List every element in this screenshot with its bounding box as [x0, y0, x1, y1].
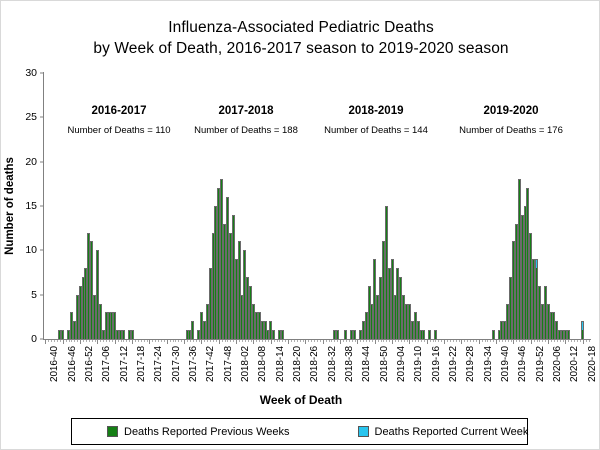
x-tick-label: 2019-10 — [413, 346, 424, 382]
x-tick-mark-minor — [450, 340, 451, 342]
x-tick-mark — [97, 340, 98, 344]
x-tick-label: 2019-52 — [535, 346, 546, 382]
bar-segment-previous-weeks — [131, 330, 134, 339]
bar-segment-previous-weeks — [61, 330, 64, 339]
x-tick-mark-minor — [89, 340, 90, 342]
x-tick-mark — [565, 340, 566, 344]
x-tick-mark-minor — [447, 340, 448, 342]
x-tick-mark-minor — [300, 340, 301, 342]
bar-segment-previous-weeks — [344, 330, 347, 339]
bar-column — [281, 330, 284, 339]
x-tick-mark — [80, 340, 81, 344]
bar-column — [344, 330, 347, 339]
season-label: 2018-2019 — [349, 105, 404, 117]
x-tick-mark-minor — [109, 340, 110, 342]
x-tick-label: 2018-32 — [327, 346, 338, 382]
x-tick-mark-minor — [66, 340, 67, 342]
x-tick-mark-minor — [71, 340, 72, 342]
x-tick-label: 2018-14 — [275, 346, 286, 382]
legend-item-previous-weeks: Deaths Reported Previous Weeks — [107, 426, 290, 438]
x-tick-mark-minor — [346, 340, 347, 342]
x-tick-mark-minor — [291, 340, 292, 342]
x-tick-mark-minor — [118, 340, 119, 342]
x-tick-mark — [201, 340, 202, 344]
x-tick-mark-minor — [568, 340, 569, 342]
bar-segment-previous-weeks — [336, 330, 339, 339]
x-tick-label: 2016-46 — [67, 346, 78, 382]
x-tick-mark-minor — [476, 340, 477, 342]
x-tick-mark-minor — [577, 340, 578, 342]
x-tick-mark-minor — [161, 340, 162, 342]
legend-swatch-green-icon — [107, 426, 118, 437]
x-tick-mark-minor — [106, 340, 107, 342]
x-tick-label: 2019-34 — [483, 346, 494, 382]
x-tick-mark — [427, 340, 428, 344]
x-tick-mark-minor — [199, 340, 200, 342]
x-tick-mark-minor — [386, 340, 387, 342]
x-tick-mark-minor — [262, 340, 263, 342]
x-tick-mark-minor — [256, 340, 257, 342]
x-tick-mark — [271, 340, 272, 344]
x-tick-mark-minor — [586, 340, 587, 342]
x-tick-mark-minor — [369, 340, 370, 342]
x-tick-mark-minor — [112, 340, 113, 342]
x-tick-mark — [323, 340, 324, 344]
x-tick-mark-minor — [164, 340, 165, 342]
x-tick-mark-minor — [69, 340, 70, 342]
x-tick-mark-minor — [493, 340, 494, 342]
bar-segment-previous-weeks — [122, 330, 125, 339]
x-tick-mark-minor — [571, 340, 572, 342]
x-tick-mark-minor — [54, 340, 55, 342]
season-total-deaths: Number of Deaths = 144 — [324, 125, 428, 136]
x-tick-mark-minor — [274, 340, 275, 342]
x-tick-label: 2020-18 — [587, 346, 598, 382]
x-tick-mark — [513, 340, 514, 344]
bar-segment-current-week — [535, 259, 538, 268]
x-tick-mark — [63, 340, 64, 344]
x-tick-mark — [392, 340, 393, 344]
x-tick-mark-minor — [282, 340, 283, 342]
x-tick-mark-minor — [329, 340, 330, 342]
x-tick-mark — [340, 340, 341, 344]
x-tick-mark-minor — [126, 340, 127, 342]
x-tick-mark — [461, 340, 462, 344]
bar-column — [492, 330, 495, 339]
x-tick-mark-minor — [372, 340, 373, 342]
chart-title-line2: by Week of Death, 2016-2017 season to 20… — [1, 38, 600, 59]
x-tick-mark-minor — [233, 340, 234, 342]
x-tick-mark-minor — [537, 340, 538, 342]
x-tick-label: 2018-50 — [379, 346, 390, 382]
x-tick-mark-minor — [216, 340, 217, 342]
x-tick-mark-minor — [141, 340, 142, 342]
bar-column — [353, 330, 356, 339]
bar-column — [567, 330, 570, 339]
x-tick-label: 2017-30 — [171, 346, 182, 382]
bar-column — [434, 330, 437, 339]
x-tick-mark-minor — [401, 340, 402, 342]
x-tick-mark-minor — [207, 340, 208, 342]
x-tick-mark-minor — [415, 340, 416, 342]
x-tick-mark — [375, 340, 376, 344]
x-tick-mark-minor — [193, 340, 194, 342]
x-tick-mark — [219, 340, 220, 344]
x-axis-title: Week of Death — [1, 393, 600, 407]
y-axis-title: Number of deaths — [4, 157, 16, 255]
bar-segment-previous-weeks — [191, 321, 194, 339]
x-tick-mark-minor — [210, 340, 211, 342]
x-tick-mark-minor — [505, 340, 506, 342]
x-tick-mark-minor — [227, 340, 228, 342]
x-tick-label: 2019-16 — [431, 346, 442, 382]
x-tick-mark-minor — [456, 340, 457, 342]
x-tick-mark — [149, 340, 150, 344]
x-tick-mark-minor — [129, 340, 130, 342]
x-tick-mark-minor — [554, 340, 555, 342]
x-tick-label: 2017-06 — [101, 346, 112, 382]
x-tick-mark — [236, 340, 237, 344]
x-tick-mark-minor — [239, 340, 240, 342]
x-tick-mark-minor — [135, 340, 136, 342]
x-tick-mark-minor — [57, 340, 58, 342]
x-tick-mark-minor — [245, 340, 246, 342]
x-tick-mark-minor — [158, 340, 159, 342]
x-tick-mark-minor — [441, 340, 442, 342]
x-tick-mark-minor — [294, 340, 295, 342]
x-tick-mark-minor — [516, 340, 517, 342]
x-tick-mark-minor — [320, 340, 321, 342]
bar-column — [581, 321, 584, 339]
x-tick-mark-minor — [363, 340, 364, 342]
x-tick-mark — [184, 340, 185, 344]
x-tick-mark-minor — [337, 340, 338, 342]
x-tick-label: 2017-42 — [205, 346, 216, 382]
x-tick-mark-minor — [77, 340, 78, 342]
x-tick-mark-minor — [502, 340, 503, 342]
bar-segment-previous-weeks — [428, 330, 431, 339]
x-tick-mark-minor — [398, 340, 399, 342]
x-tick-mark-minor — [557, 340, 558, 342]
bar-segment-current-week — [581, 321, 584, 330]
bar-column — [61, 330, 64, 339]
chart-frame: Influenza-Associated Pediatric Deaths by… — [0, 0, 600, 450]
x-tick-mark-minor — [453, 340, 454, 342]
x-tick-mark-minor — [499, 340, 500, 342]
x-tick-mark — [115, 340, 116, 344]
chart-title-line1: Influenza-Associated Pediatric Deaths — [1, 17, 600, 38]
chart-title: Influenza-Associated Pediatric Deaths by… — [1, 17, 600, 59]
x-tick-mark-minor — [485, 340, 486, 342]
x-tick-mark — [357, 340, 358, 344]
x-tick-label: 2020-12 — [569, 346, 580, 382]
x-tick-label: 2018-08 — [257, 346, 268, 382]
x-tick-mark-minor — [511, 340, 512, 342]
x-tick-label: 2016-40 — [49, 346, 60, 382]
legend-swatch-blue-icon — [358, 426, 369, 437]
x-tick-mark-minor — [196, 340, 197, 342]
x-tick-label: 2019-28 — [465, 346, 476, 382]
x-tick-mark-minor — [574, 340, 575, 342]
x-tick-mark-minor — [580, 340, 581, 342]
x-tick-mark-minor — [222, 340, 223, 342]
bar-segment-previous-weeks — [492, 330, 495, 339]
x-tick-mark-minor — [589, 340, 590, 342]
x-tick-mark-minor — [181, 340, 182, 342]
x-tick-mark-minor — [242, 340, 243, 342]
x-tick-mark-minor — [48, 340, 49, 342]
x-tick-mark-minor — [470, 340, 471, 342]
x-tick-mark-minor — [424, 340, 425, 342]
x-tick-label: 2018-02 — [240, 346, 251, 382]
x-tick-mark-minor — [308, 340, 309, 342]
x-tick-label: 2020-06 — [552, 346, 563, 382]
bar-segment-previous-weeks — [581, 330, 584, 339]
x-tick-mark-minor — [331, 340, 332, 342]
x-tick-mark-minor — [404, 340, 405, 342]
x-tick-label: 2018-44 — [361, 346, 372, 382]
x-tick-mark-minor — [259, 340, 260, 342]
x-tick-mark-minor — [144, 340, 145, 342]
x-tick-mark-minor — [268, 340, 269, 342]
x-tick-mark-minor — [147, 340, 148, 342]
bar-column — [191, 321, 194, 339]
x-tick-mark-minor — [418, 340, 419, 342]
x-tick-mark-minor — [51, 340, 52, 342]
x-tick-mark-minor — [378, 340, 379, 342]
x-tick-mark-minor — [467, 340, 468, 342]
x-tick-mark-minor — [230, 340, 231, 342]
x-tick-mark — [531, 340, 532, 344]
x-tick-mark-minor — [435, 340, 436, 342]
x-tick-label: 2018-38 — [344, 346, 355, 382]
x-tick-mark-minor — [525, 340, 526, 342]
x-tick-mark-minor — [86, 340, 87, 342]
x-tick-mark-minor — [297, 340, 298, 342]
x-tick-mark-minor — [539, 340, 540, 342]
x-tick-mark-minor — [522, 340, 523, 342]
season-total-deaths: Number of Deaths = 176 — [459, 125, 563, 136]
x-tick-mark-minor — [487, 340, 488, 342]
x-tick-mark-minor — [560, 340, 561, 342]
x-tick-mark-minor — [508, 340, 509, 342]
x-tick-mark-minor — [366, 340, 367, 342]
x-tick-mark-minor — [438, 340, 439, 342]
x-tick-mark-minor — [542, 340, 543, 342]
bar-segment-previous-weeks — [281, 330, 284, 339]
x-tick-mark-minor — [421, 340, 422, 342]
season-label: 2016-2017 — [92, 105, 147, 117]
x-tick-mark-minor — [279, 340, 280, 342]
x-tick-mark — [167, 340, 168, 344]
x-tick-mark-minor — [389, 340, 390, 342]
x-tick-mark-minor — [152, 340, 153, 342]
bar-column — [272, 330, 275, 339]
x-tick-mark-minor — [412, 340, 413, 342]
bar-segment-previous-weeks — [353, 330, 356, 339]
season-label: 2017-2018 — [219, 105, 274, 117]
x-tick-mark-minor — [277, 340, 278, 342]
bar-column — [422, 330, 425, 339]
x-tick-mark-minor — [430, 340, 431, 342]
x-tick-mark-minor — [173, 340, 174, 342]
x-tick-mark-minor — [360, 340, 361, 342]
x-tick-mark-minor — [187, 340, 188, 342]
x-tick-mark-minor — [314, 340, 315, 342]
x-tick-mark-minor — [519, 340, 520, 342]
x-tick-mark-minor — [464, 340, 465, 342]
x-tick-mark-minor — [383, 340, 384, 342]
x-tick-mark — [305, 340, 306, 344]
x-tick-label: 2017-12 — [119, 346, 130, 382]
x-tick-label: 2017-18 — [136, 346, 147, 382]
x-tick-mark-minor — [92, 340, 93, 342]
x-tick-mark — [288, 340, 289, 344]
x-tick-mark-minor — [334, 340, 335, 342]
x-tick-mark-minor — [303, 340, 304, 342]
x-tick-mark-minor — [265, 340, 266, 342]
x-tick-mark-minor — [204, 340, 205, 342]
x-tick-mark — [132, 340, 133, 344]
x-tick-mark-minor — [103, 340, 104, 342]
x-tick-mark-minor — [433, 340, 434, 342]
x-tick-mark-minor — [528, 340, 529, 342]
x-tick-mark-minor — [482, 340, 483, 342]
x-tick-mark-minor — [213, 340, 214, 342]
season-total-deaths: Number of Deaths = 110 — [67, 125, 170, 136]
x-tick-mark-minor — [311, 340, 312, 342]
x-tick-mark — [583, 340, 584, 344]
x-tick-mark-minor — [251, 340, 252, 342]
legend-label-previous-weeks: Deaths Reported Previous Weeks — [124, 426, 290, 438]
x-tick-mark-minor — [407, 340, 408, 342]
x-tick-mark-minor — [326, 340, 327, 342]
x-tick-label: 2019-22 — [448, 346, 459, 382]
x-tick-mark — [444, 340, 445, 344]
x-tick-mark-minor — [83, 340, 84, 342]
x-tick-mark-minor — [563, 340, 564, 342]
x-tick-mark — [45, 340, 46, 344]
x-tick-mark-minor — [395, 340, 396, 342]
x-tick-mark-minor — [285, 340, 286, 342]
x-tick-mark-minor — [178, 340, 179, 342]
bar-column — [428, 330, 431, 339]
bar-column — [336, 330, 339, 339]
bar-column — [122, 330, 125, 339]
bar-segment-previous-weeks — [272, 330, 275, 339]
x-tick-label: 2016-52 — [84, 346, 95, 382]
x-tick-mark-minor — [190, 340, 191, 342]
x-tick-mark-minor — [352, 340, 353, 342]
x-tick-mark-minor — [74, 340, 75, 342]
x-tick-mark-minor — [121, 340, 122, 342]
legend-label-current-week: Deaths Reported Current Week — [375, 426, 529, 438]
x-tick-mark-minor — [551, 340, 552, 342]
x-tick-mark-minor — [545, 340, 546, 342]
x-tick-mark-minor — [95, 340, 96, 342]
x-tick-mark-minor — [60, 340, 61, 342]
x-tick-mark-minor — [349, 340, 350, 342]
x-tick-mark-minor — [343, 340, 344, 342]
x-tick-mark-minor — [490, 340, 491, 342]
x-tick-label: 2019-40 — [500, 346, 511, 382]
x-tick-mark-minor — [138, 340, 139, 342]
x-tick-label: 2018-20 — [292, 346, 303, 382]
x-tick-mark-minor — [355, 340, 356, 342]
bar-segment-previous-weeks — [422, 330, 425, 339]
bar-column — [131, 330, 134, 339]
x-tick-mark-minor — [381, 340, 382, 342]
x-tick-mark-minor — [534, 340, 535, 342]
x-tick-mark-minor — [317, 340, 318, 342]
x-tick-mark — [496, 340, 497, 344]
season-total-deaths: Number of Deaths = 188 — [194, 125, 298, 136]
x-tick-mark-minor — [175, 340, 176, 342]
x-tick-mark-minor — [248, 340, 249, 342]
x-tick-label: 2019-04 — [396, 346, 407, 382]
bar-segment-previous-weeks — [434, 330, 437, 339]
x-tick-mark — [479, 340, 480, 344]
chart-legend: Deaths Reported Previous Weeks Deaths Re… — [71, 418, 528, 445]
x-tick-label: 2017-24 — [153, 346, 164, 382]
x-tick-label: 2018-26 — [309, 346, 320, 382]
x-tick-mark-minor — [155, 340, 156, 342]
season-label: 2019-2020 — [484, 105, 539, 117]
x-tick-mark — [548, 340, 549, 344]
bar-segment-previous-weeks — [567, 330, 570, 339]
x-tick-mark-minor — [100, 340, 101, 342]
x-tick-mark-minor — [225, 340, 226, 342]
x-tick-mark-minor — [170, 340, 171, 342]
x-tick-mark-minor — [473, 340, 474, 342]
x-tick-label: 2017-36 — [188, 346, 199, 382]
legend-item-current-week: Deaths Reported Current Week — [358, 426, 529, 438]
x-tick-mark — [253, 340, 254, 344]
x-tick-label: 2019-46 — [517, 346, 528, 382]
x-tick-mark-minor — [123, 340, 124, 342]
x-tick-mark-minor — [459, 340, 460, 342]
x-tick-label: 2017-48 — [223, 346, 234, 382]
x-tick-mark — [409, 340, 410, 344]
